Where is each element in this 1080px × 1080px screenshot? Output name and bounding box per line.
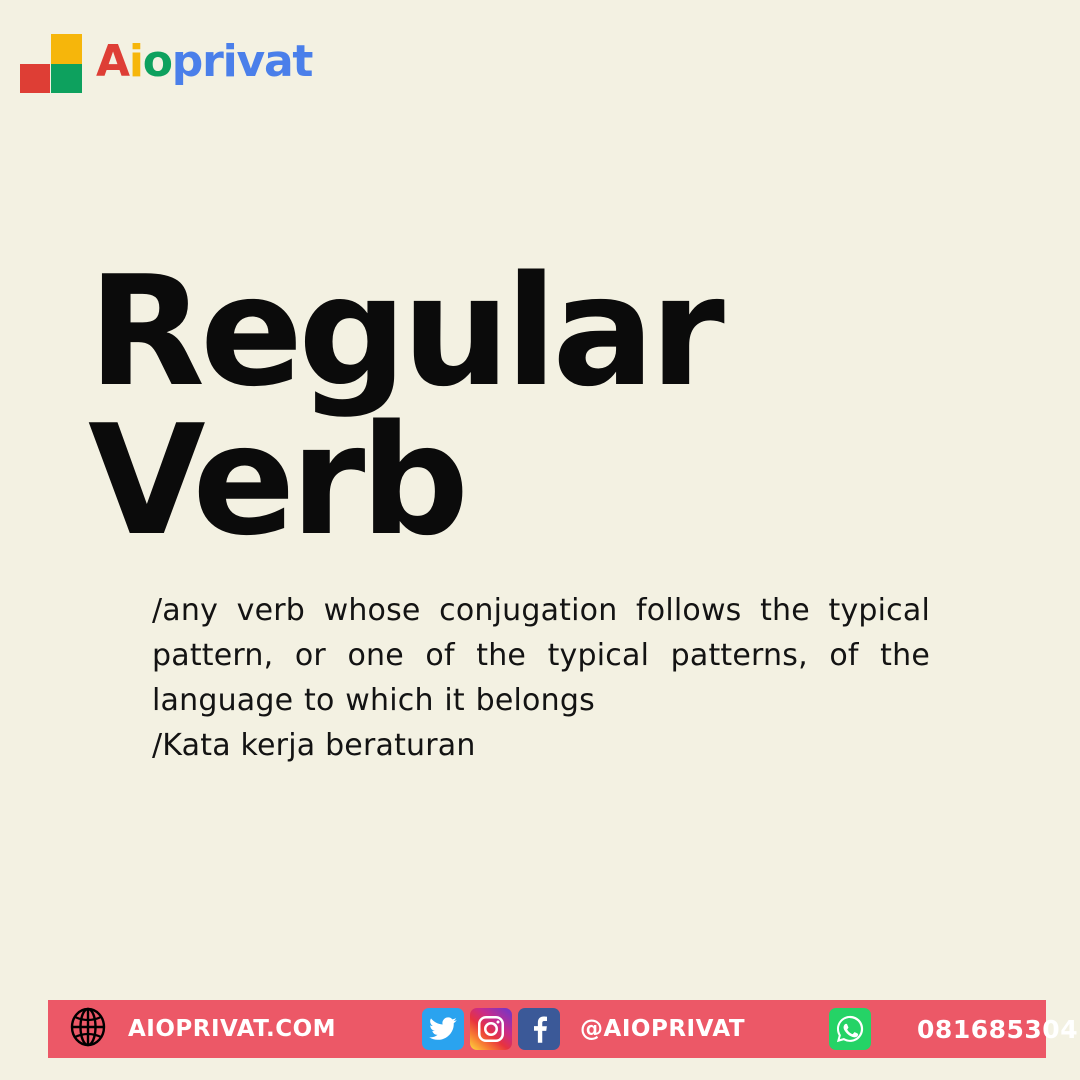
brand-logo[interactable]: Aioprivat bbox=[20, 34, 312, 92]
logo-square-green-icon bbox=[51, 64, 82, 93]
logo-letters-privat: privat bbox=[172, 36, 312, 87]
definition-block: /any verb whose conjugation follows the … bbox=[152, 588, 930, 768]
page-title-line-2: Verb bbox=[88, 407, 988, 556]
twitter-icon[interactable] bbox=[422, 1008, 464, 1050]
facebook-icon[interactable] bbox=[518, 1008, 560, 1050]
globe-icon bbox=[68, 1007, 108, 1052]
definition-english: /any verb whose conjugation follows the … bbox=[152, 588, 930, 723]
footer-phone-label: 0816853042 bbox=[917, 1015, 1080, 1044]
logo-letter-o: o bbox=[143, 36, 172, 87]
page-title-line-1: Regular bbox=[88, 258, 988, 407]
footer-whatsapp-group[interactable]: 0816853042 bbox=[829, 1008, 1080, 1050]
logo-square-red-icon bbox=[20, 64, 50, 93]
definition-indonesian: /Kata kerja beraturan bbox=[152, 723, 930, 768]
footer-social-group[interactable]: @AIOPRIVAT bbox=[422, 1008, 745, 1050]
instagram-icon[interactable] bbox=[470, 1008, 512, 1050]
logo-mark bbox=[20, 34, 82, 92]
page-title: Regular Verb bbox=[88, 258, 988, 556]
footer-website-label: AIOPRIVAT.COM bbox=[128, 1016, 336, 1042]
whatsapp-icon[interactable] bbox=[829, 1008, 871, 1050]
footer-bar: AIOPRIVAT.COM @AIOPRIVAT bbox=[48, 1000, 1046, 1058]
footer-social-handle: @AIOPRIVAT bbox=[580, 1016, 745, 1042]
logo-square-yellow-icon bbox=[51, 34, 82, 64]
footer-website-group[interactable]: AIOPRIVAT.COM bbox=[68, 1007, 336, 1052]
logo-letter-a: A bbox=[96, 36, 129, 87]
logo-letter-i: i bbox=[129, 36, 143, 87]
logo-wordmark: Aioprivat bbox=[96, 40, 312, 84]
